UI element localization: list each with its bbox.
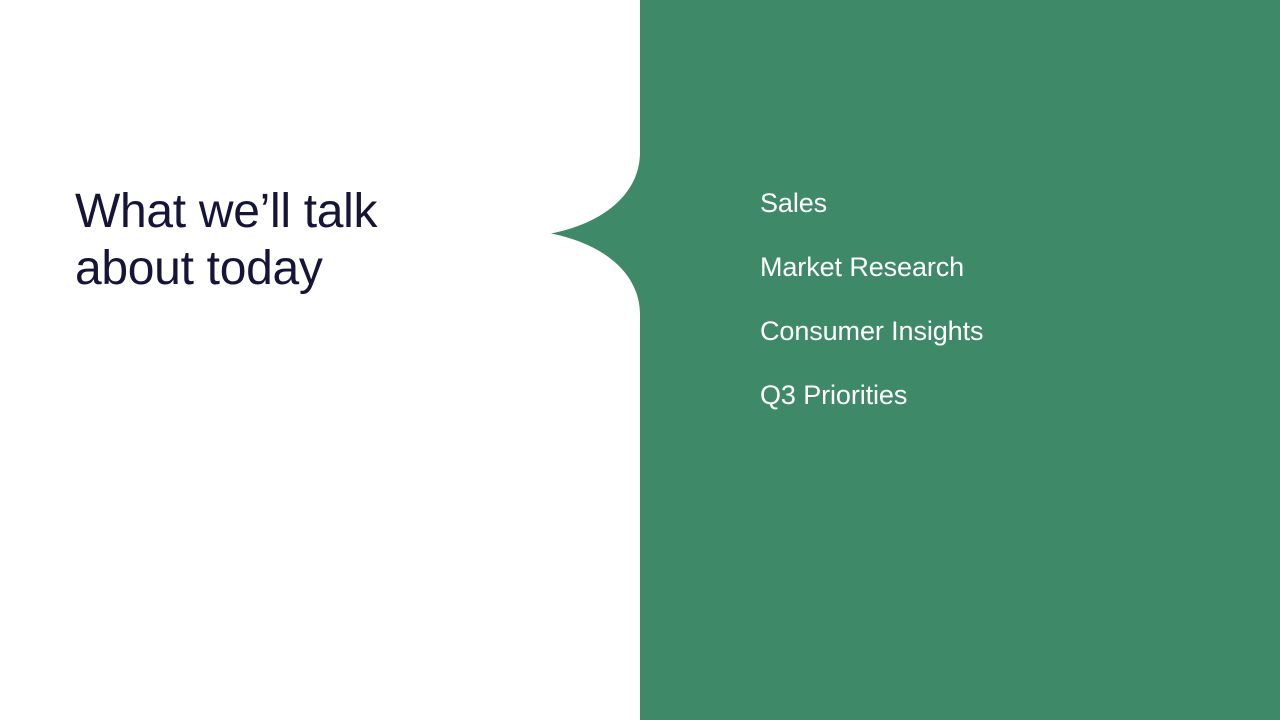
list-item[interactable]: Q3 Priorities: [760, 370, 983, 434]
right-panel: Sales Market Research Consumer Insights …: [640, 0, 1280, 720]
list-item[interactable]: Market Research: [760, 242, 983, 306]
left-panel: What we’ll talk about today: [0, 0, 640, 720]
page-title: What we’ll talk about today: [75, 183, 535, 297]
list-item[interactable]: Consumer Insights: [760, 306, 983, 370]
agenda-slide: What we’ll talk about today Sales Market…: [0, 0, 1280, 720]
agenda-list: Sales Market Research Consumer Insights …: [760, 178, 983, 434]
list-item[interactable]: Sales: [760, 178, 983, 242]
